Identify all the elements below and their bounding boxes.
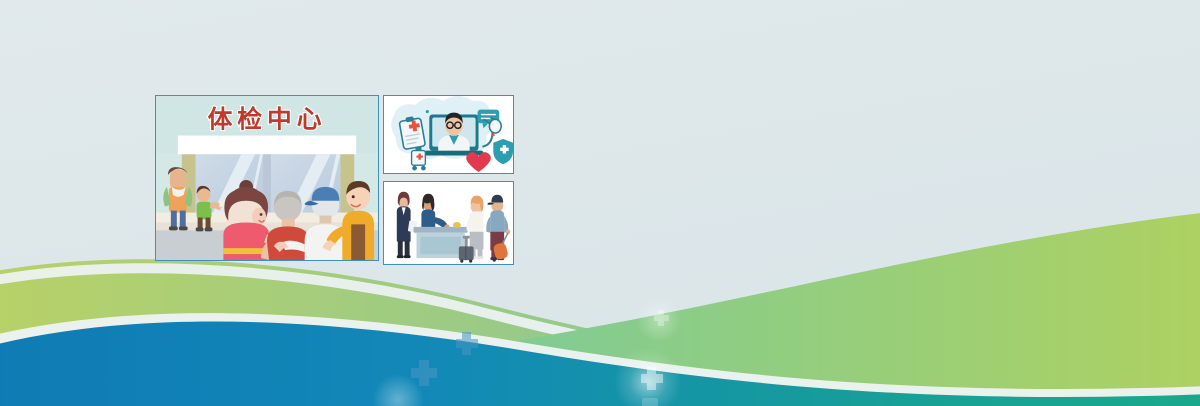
stethoscope-head: [489, 119, 501, 133]
svg-text:体检中心: 体检中心: [208, 105, 327, 134]
telemedicine-card[interactable]: 在线问诊医生插画: [383, 95, 514, 174]
decor-dot: [426, 110, 429, 113]
banner-stage: 体检中心 体检中心: [0, 0, 1200, 406]
telemedicine-illustration: [384, 96, 513, 173]
health-examination-center-card[interactable]: 体检中心 体检中心: [155, 95, 379, 261]
sign-board: [178, 136, 356, 155]
decor-dot: [492, 134, 495, 137]
reception-desk-illustration: [384, 182, 513, 264]
health-examination-center-illustration: 体检中心: [156, 96, 378, 260]
glow-square: [642, 398, 658, 406]
reception-desk-card[interactable]: 前台接待与旅客插画: [383, 181, 514, 265]
